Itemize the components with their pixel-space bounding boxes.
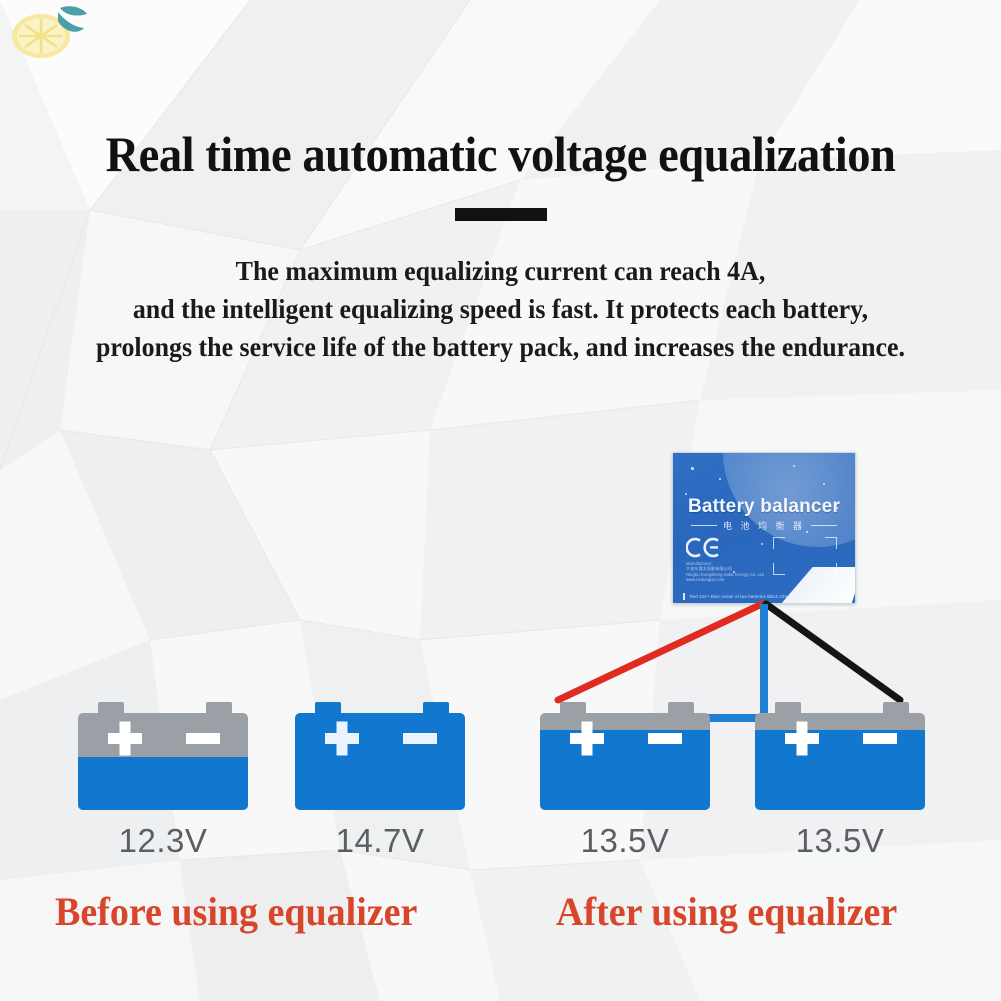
device-subtitle-cn: 电 池 均 衡 器 [673, 519, 855, 532]
negative-wire [766, 604, 900, 700]
caption-after: After using equalizer [556, 888, 897, 935]
subtitle-dash-right [811, 525, 837, 526]
body-copy: The maximum equalizing current can reach… [20, 252, 981, 366]
ce-mark-icon [686, 537, 722, 558]
battery-body [295, 702, 465, 810]
body-line-2: and the intelligent equalizing speed is … [20, 290, 981, 328]
voltage-before-right: 14.7V [285, 822, 475, 860]
battery-body [540, 702, 710, 810]
subtitle-dash-left [691, 525, 717, 526]
device-title: Battery balancer [673, 496, 855, 518]
subtitle-cn-text: 电 池 均 衡 器 [723, 519, 805, 532]
voltage-after-right: 13.5V [745, 822, 935, 860]
battery-body [78, 702, 248, 810]
battery-before-left [78, 702, 248, 810]
bracket-top-left [773, 537, 785, 549]
brand-logo [8, 2, 100, 64]
infographic-page: Real time automatic voltage equalization… [0, 0, 1001, 1001]
body-line-1: The maximum equalizing current can reach… [20, 252, 981, 290]
battery-after-left [540, 702, 710, 810]
positive-wire [558, 604, 762, 700]
battery-body [755, 702, 925, 810]
voltage-before-left: 12.3V [68, 822, 258, 860]
body-line-3: prolongs the service life of the battery… [20, 328, 981, 366]
bracket-top-right [825, 537, 837, 549]
voltage-after-left: 13.5V [530, 822, 720, 860]
battery-before-right [295, 702, 465, 810]
page-title: Real time automatic voltage equalization [35, 124, 966, 184]
title-divider [455, 208, 547, 221]
battery-after-right [755, 702, 925, 810]
caption-before: Before using equalizer [55, 888, 417, 935]
